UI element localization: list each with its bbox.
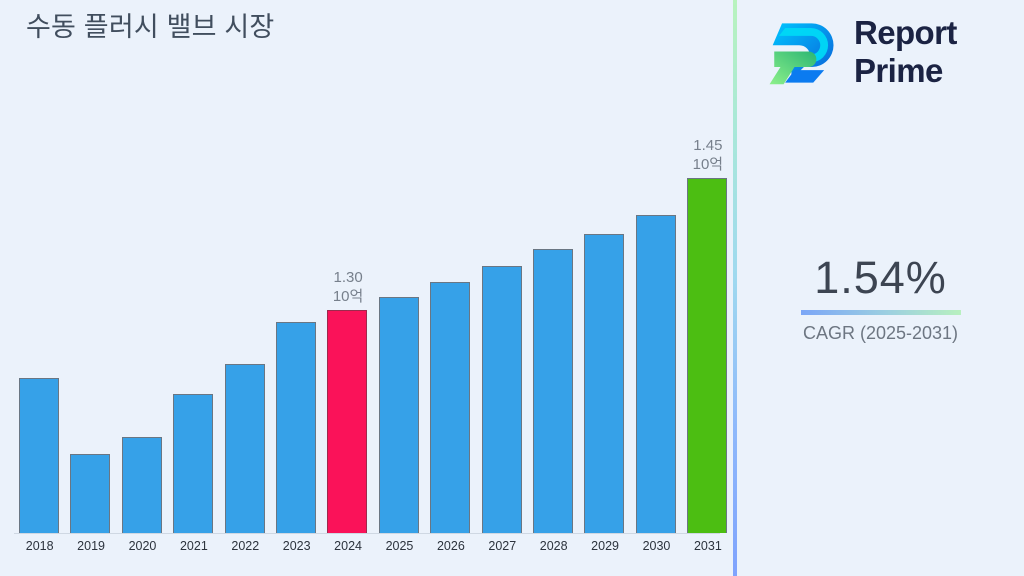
x-tick-2020: 2020 xyxy=(117,538,168,554)
bar-2021[interactable] xyxy=(168,110,219,533)
bar-value-2031: 1.45 xyxy=(682,136,733,155)
x-tick-2023: 2023 xyxy=(271,538,322,554)
bar-rect-2025[interactable] xyxy=(379,297,419,533)
bar-rect-2023[interactable] xyxy=(276,322,316,533)
bar-2028[interactable] xyxy=(528,110,579,533)
x-axis-baseline xyxy=(14,533,720,534)
bar-rect-2026[interactable] xyxy=(430,282,470,533)
bar-chart-plot-area: 1.3010억1.4510억 xyxy=(0,110,734,534)
bar-rect-2030[interactable] xyxy=(636,215,676,533)
bar-2026[interactable] xyxy=(425,110,476,533)
bar-2018[interactable] xyxy=(14,110,65,533)
bar-rect-2031[interactable] xyxy=(687,178,727,533)
x-axis-tick-labels: 2018201920202021202220232024202520262027… xyxy=(0,538,734,564)
cagr-rule xyxy=(801,310,961,315)
x-tick-2025: 2025 xyxy=(374,538,425,554)
bar-2022[interactable] xyxy=(220,110,271,533)
bar-2030[interactable] xyxy=(631,110,682,533)
bar-rect-2020[interactable] xyxy=(122,437,162,533)
cagr-block: 1.54% CAGR (2025-2031) xyxy=(737,250,1024,345)
brand-name-line2: Prime xyxy=(854,52,1018,90)
x-tick-2022: 2022 xyxy=(220,538,271,554)
bar-rect-2024[interactable] xyxy=(327,310,367,533)
bar-rect-2019[interactable] xyxy=(70,454,110,533)
bar-2029[interactable] xyxy=(579,110,630,533)
x-tick-2030: 2030 xyxy=(631,538,682,554)
bar-2027[interactable] xyxy=(477,110,528,533)
bar-value-label-2024: 1.3010억 xyxy=(322,268,373,306)
chart-infographic: 수동 플러시 밸브 시장 1.3010억1.4510억 201820192020… xyxy=(0,0,1024,576)
bar-2020[interactable] xyxy=(117,110,168,533)
brand-name-line1: Report xyxy=(854,14,957,51)
bar-2024[interactable]: 1.3010억 xyxy=(322,110,373,533)
bar-value-unit-2024: 10억 xyxy=(322,287,373,306)
brand-panel: Report Prime 1.54% CAGR (2025-2031) xyxy=(737,0,1024,576)
bar-value-unit-2031: 10억 xyxy=(682,155,733,174)
bar-rect-2021[interactable] xyxy=(173,394,213,533)
bar-rect-2028[interactable] xyxy=(533,249,573,533)
bar-2019[interactable] xyxy=(65,110,116,533)
page-title: 수동 플러시 밸브 시장 xyxy=(26,10,274,44)
bar-rect-2029[interactable] xyxy=(584,234,624,533)
x-tick-2026: 2026 xyxy=(425,538,476,554)
bar-value-2024: 1.30 xyxy=(322,268,373,287)
bar-2025[interactable] xyxy=(374,110,425,533)
cagr-caption: CAGR (2025-2031) xyxy=(737,321,1024,345)
chart-panel: 수동 플러시 밸브 시장 1.3010억1.4510억 201820192020… xyxy=(0,0,734,576)
cagr-value: 1.54% xyxy=(737,250,1024,306)
report-prime-logo-icon xyxy=(768,14,846,92)
x-tick-2019: 2019 xyxy=(65,538,116,554)
bar-rect-2018[interactable] xyxy=(19,378,59,533)
x-tick-2027: 2027 xyxy=(477,538,528,554)
bar-value-label-2031: 1.4510억 xyxy=(682,136,733,174)
bar-rect-2022[interactable] xyxy=(225,364,265,533)
brand-logo[interactable]: Report Prime xyxy=(768,10,1018,94)
x-tick-2021: 2021 xyxy=(168,538,219,554)
x-tick-2028: 2028 xyxy=(528,538,579,554)
bar-2023[interactable] xyxy=(271,110,322,533)
brand-name: Report Prime xyxy=(854,14,1018,90)
bar-rect-2027[interactable] xyxy=(482,266,522,533)
bar-2031[interactable]: 1.4510억 xyxy=(682,110,733,533)
x-tick-2031: 2031 xyxy=(682,538,733,554)
x-tick-2024: 2024 xyxy=(322,538,373,554)
x-tick-2029: 2029 xyxy=(579,538,630,554)
x-tick-2018: 2018 xyxy=(14,538,65,554)
